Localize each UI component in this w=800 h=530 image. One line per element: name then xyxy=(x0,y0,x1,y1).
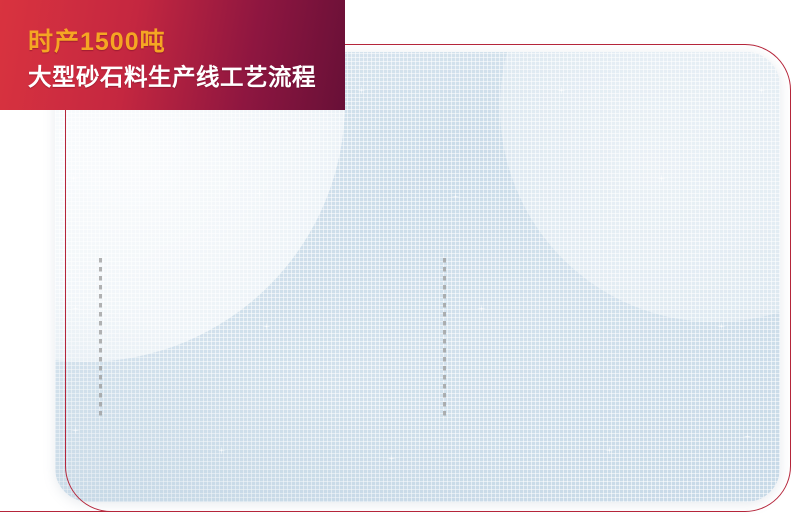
panel-vignette xyxy=(55,52,780,502)
poster-canvas: 红 红星机器 1. ZSW600×180振动给料机 xyxy=(0,0,800,530)
banner-title-line2: 大型砂石料生产线工艺流程 xyxy=(28,58,316,92)
dotted-divider-vertical-left xyxy=(99,258,102,418)
banner-title-line1: 时产1500吨 xyxy=(28,22,166,58)
frame-bottom-rule xyxy=(0,511,130,512)
title-banner: 时产1500吨 大型砂石料生产线工艺流程 xyxy=(0,0,345,110)
dotted-divider-vertical-right xyxy=(443,258,446,418)
background-panel xyxy=(55,52,780,502)
